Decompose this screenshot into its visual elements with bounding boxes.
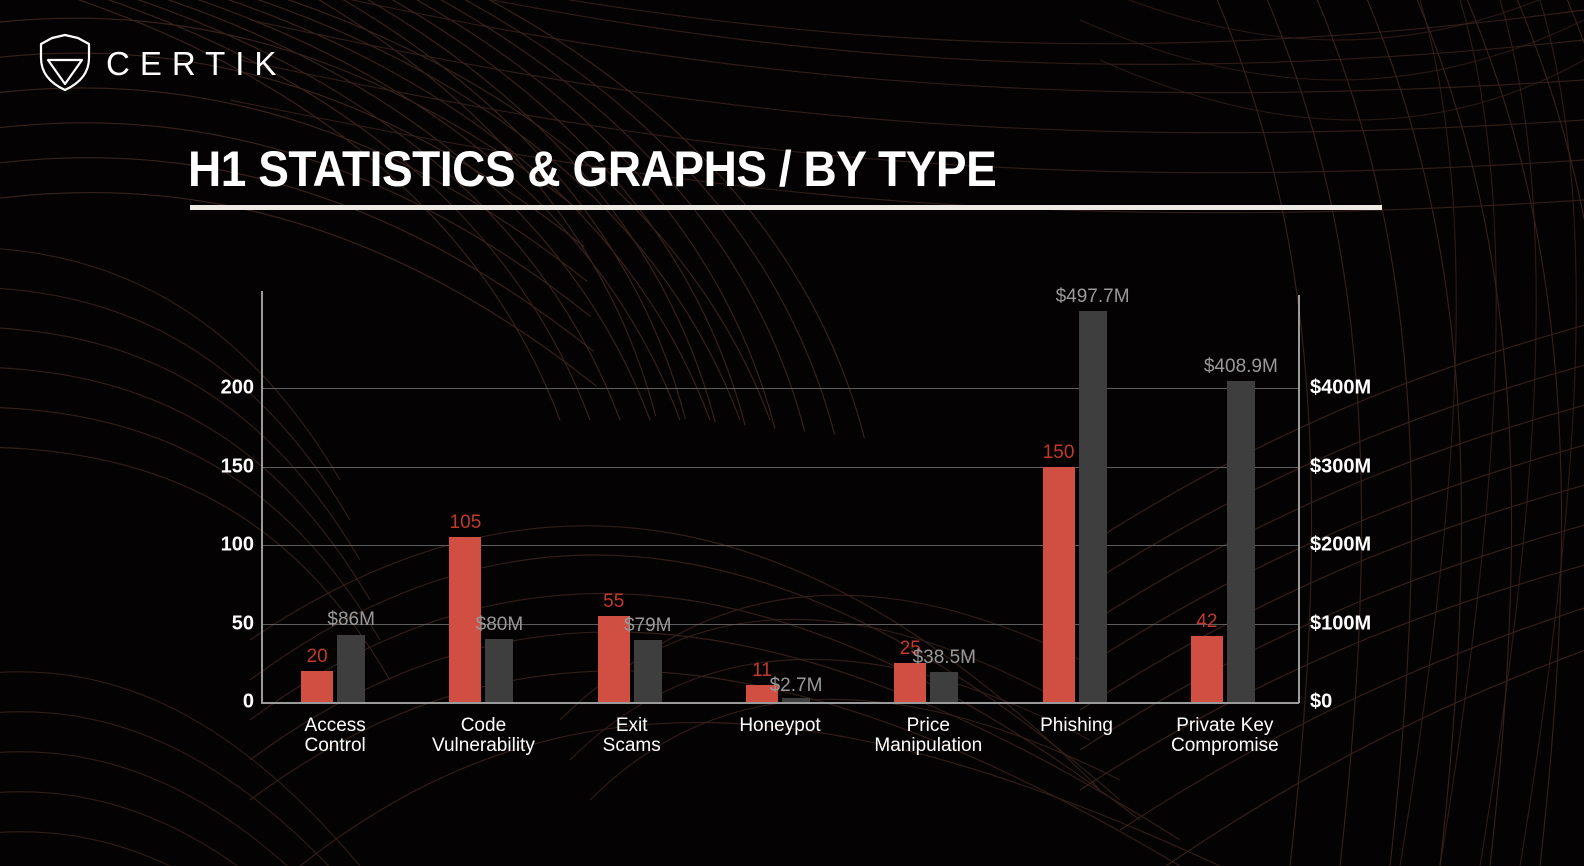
category-label: Exit Scams	[603, 716, 661, 756]
right-axis-tick-label: $400M	[1310, 377, 1371, 400]
left-axis-line	[261, 291, 263, 703]
category-label: Private Key Compromise	[1171, 716, 1279, 756]
bar-value-label-loss: $38.5M	[913, 647, 976, 669]
bar-value-label-count: 42	[1196, 611, 1217, 633]
bar-value-label-count: 105	[450, 512, 482, 534]
bar-value-label-loss: $2.7M	[770, 675, 823, 697]
bar-incident-count[interactable]	[1191, 636, 1223, 702]
bar-loss-amount[interactable]	[337, 635, 365, 703]
bar-loss-amount[interactable]	[634, 640, 662, 702]
bar-incident-count[interactable]	[301, 671, 333, 702]
bar-loss-amount[interactable]	[485, 639, 513, 702]
left-axis-tick-label: 50	[232, 612, 254, 635]
bar-value-label-loss: $79M	[624, 615, 672, 637]
bar-chart: 050100150200 $0$100M$200M$300M$400M 20$8…	[0, 0, 1584, 866]
baseline-axis	[261, 702, 1299, 704]
bar-value-label-count: 20	[307, 646, 328, 668]
category-label: Honeypot	[739, 716, 820, 736]
right-axis-line	[1298, 295, 1300, 703]
gridline	[261, 467, 1299, 468]
bar-value-label-count: 150	[1043, 442, 1075, 464]
left-axis-tick-label: 150	[221, 455, 254, 478]
bar-value-label-loss: $86M	[327, 609, 375, 631]
bar-value-label-loss: $80M	[476, 614, 524, 636]
bar-incident-count[interactable]	[1043, 467, 1075, 703]
right-axis-tick-label: $0	[1310, 691, 1332, 714]
category-label: Code Vulnerability	[432, 716, 535, 756]
left-axis-tick-label: 0	[243, 691, 254, 714]
category-label: Access Control	[305, 716, 366, 756]
right-axis-tick-label: $100M	[1310, 612, 1371, 635]
bar-value-label-loss: $497.7M	[1056, 286, 1130, 308]
slide-canvas: CERTIK H1 STATISTICS & GRAPHS / BY TYPE …	[0, 0, 1584, 866]
left-axis-tick-label: 200	[221, 377, 254, 400]
gridline	[261, 624, 1299, 625]
gridline	[261, 388, 1299, 389]
gridline	[261, 545, 1299, 546]
bar-value-label-count: 55	[603, 591, 624, 613]
left-axis-tick-label: 100	[221, 534, 254, 557]
right-axis-tick-label: $200M	[1310, 534, 1371, 557]
bar-value-label-loss: $408.9M	[1204, 356, 1278, 378]
bar-loss-amount[interactable]	[930, 672, 958, 702]
right-axis-tick-label: $300M	[1310, 455, 1371, 478]
bar-loss-amount[interactable]	[1079, 311, 1107, 702]
category-label: Phishing	[1040, 716, 1113, 736]
bar-loss-amount[interactable]	[1227, 381, 1255, 702]
category-label: Price Manipulation	[874, 716, 982, 756]
bar-loss-amount[interactable]	[782, 698, 810, 702]
